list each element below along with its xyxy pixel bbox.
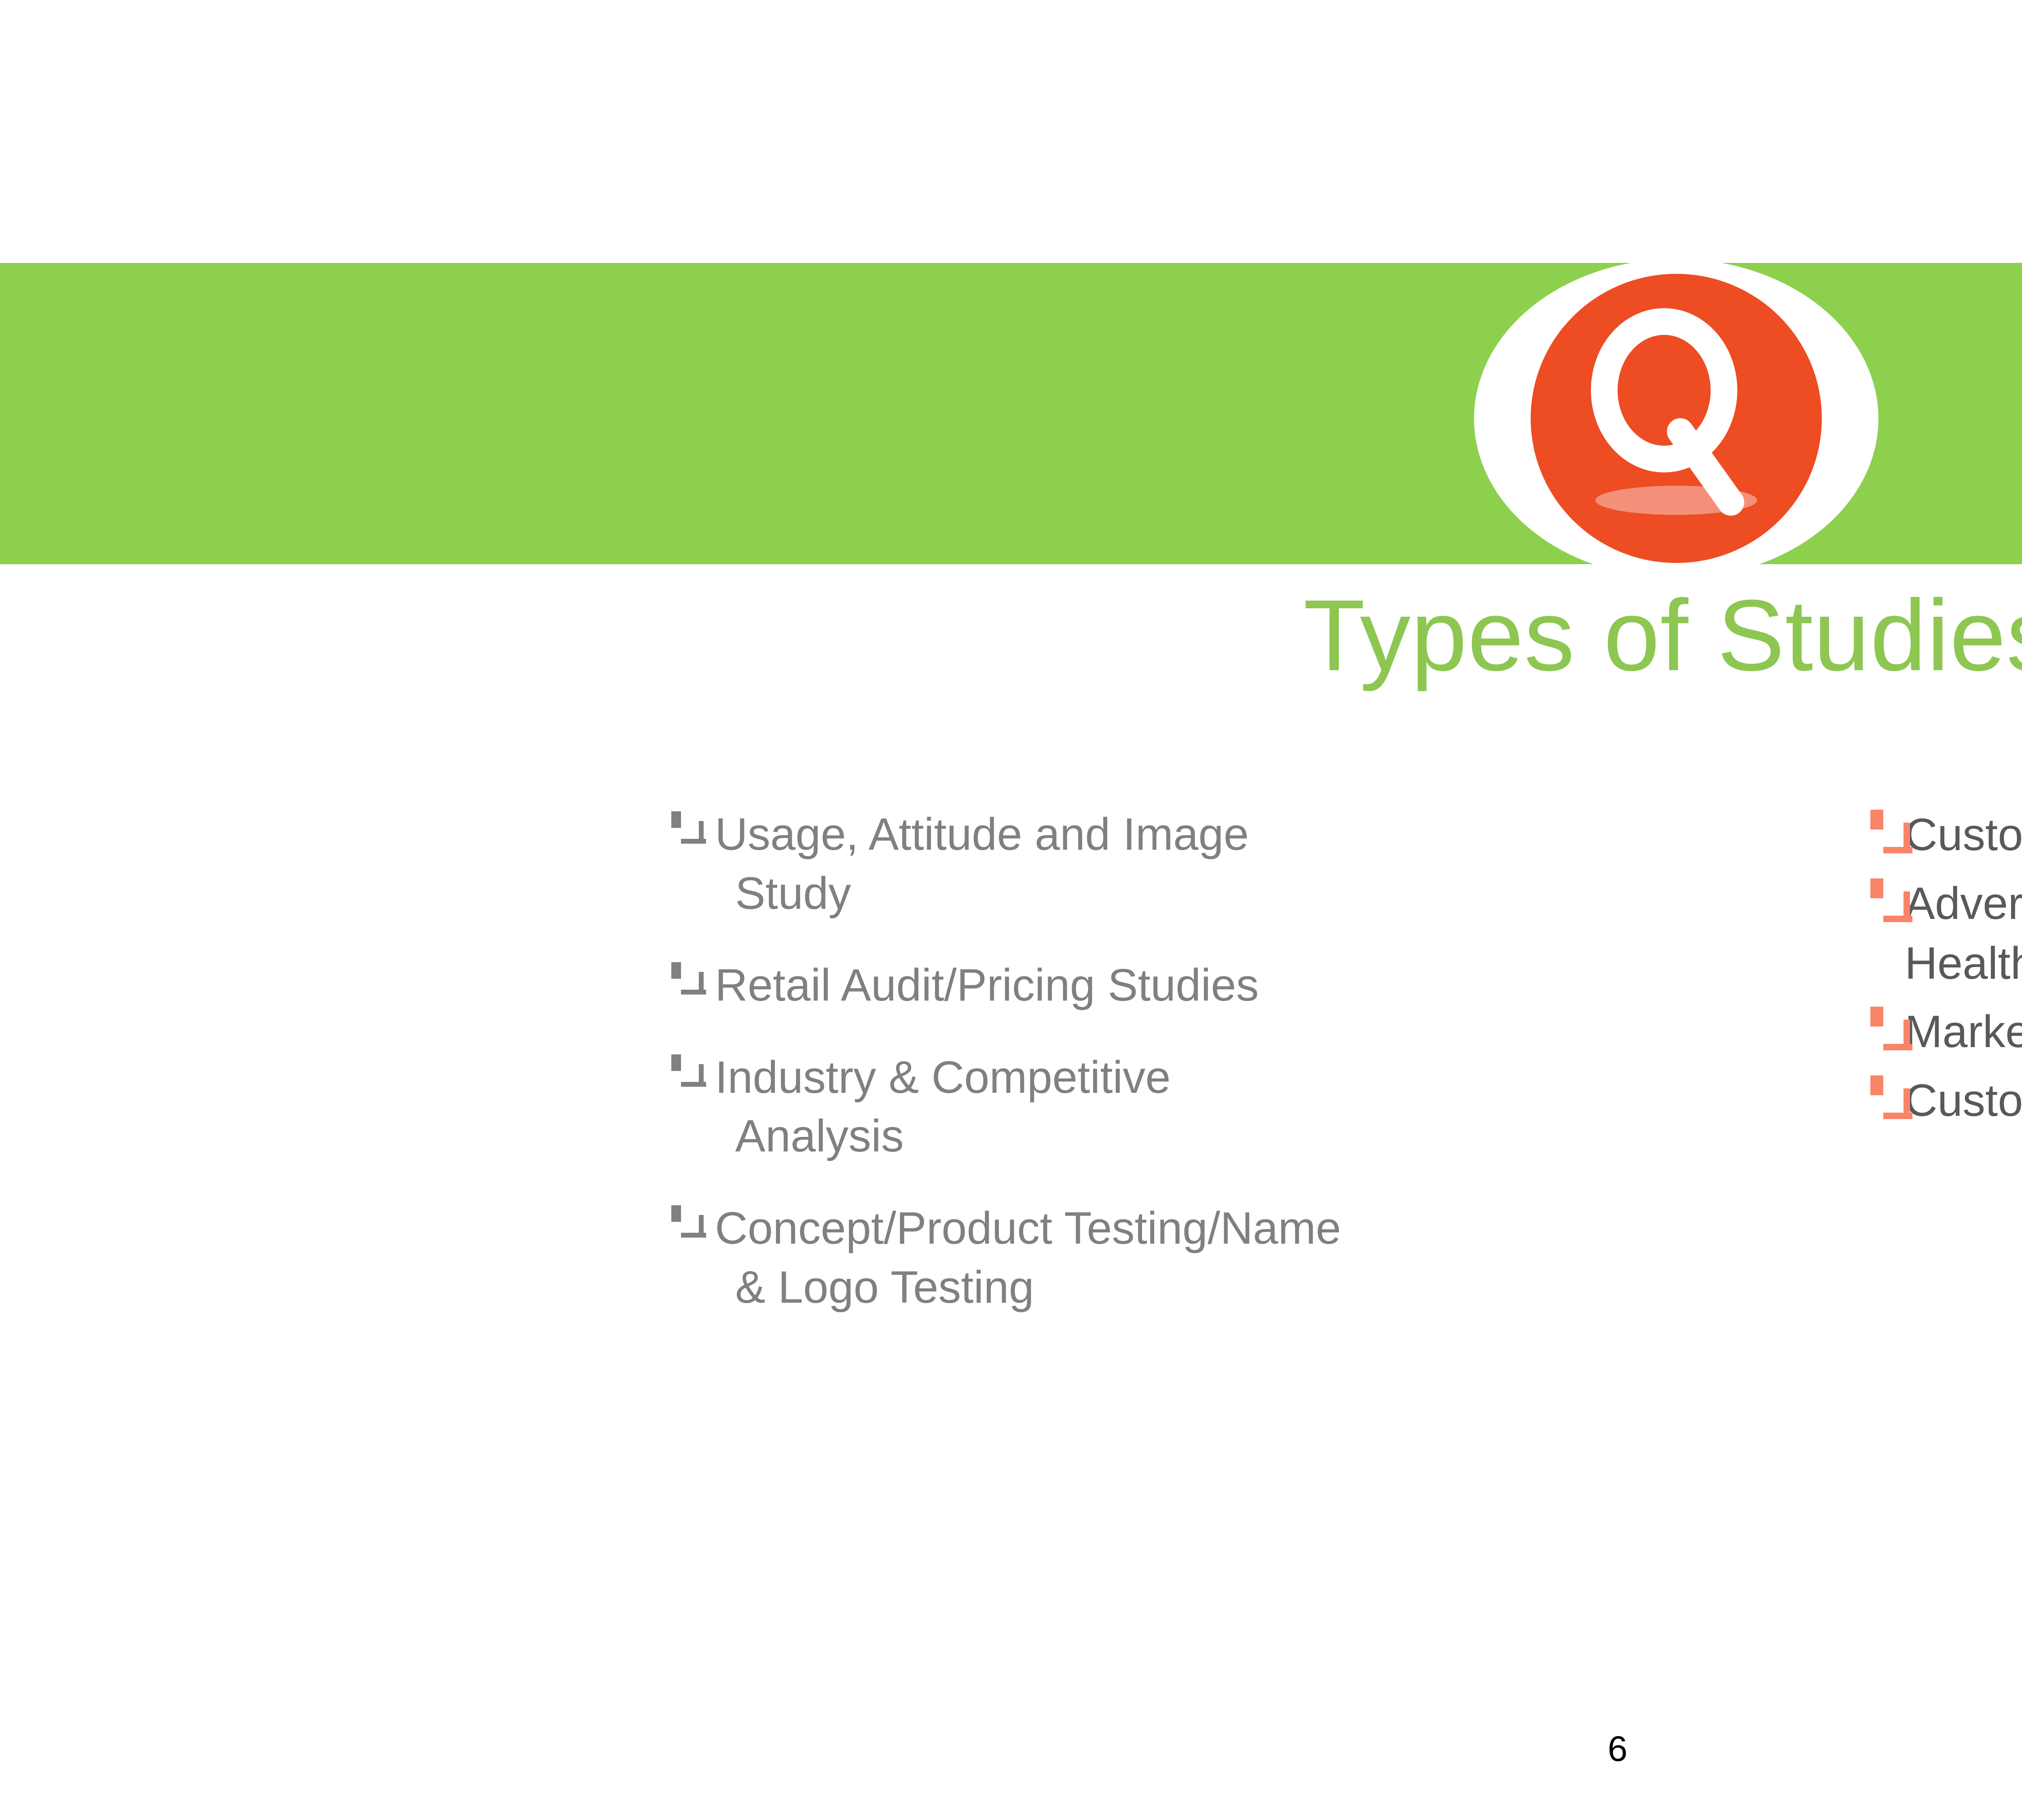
list-item[interactable]: Retail Audit/Pricing Studies bbox=[671, 956, 1703, 1015]
list-item[interactable]: Advertising Tracking/Brand Health bbox=[1870, 874, 2022, 993]
hollow-square-bullet-icon bbox=[671, 1210, 715, 1217]
list-item-line1: Industry & Competitive bbox=[715, 1052, 1171, 1103]
search-icon bbox=[1531, 274, 1822, 563]
list-item[interactable]: Concept/Product Testing/Name & Logo Test… bbox=[671, 1199, 1703, 1316]
list-item-line2: Analysis bbox=[715, 1107, 1703, 1166]
hollow-square-bullet-icon bbox=[671, 1059, 715, 1067]
list-item[interactable]: Usage, Attitude and Image Study bbox=[671, 805, 1703, 923]
hollow-square-bullet-icon bbox=[1870, 1013, 1905, 1020]
list-item-line1: Concept/Product Testing/Name bbox=[715, 1203, 1341, 1253]
page-number: 6 bbox=[1553, 1731, 1682, 1767]
list-item[interactable]: Customer Experience bbox=[1870, 1071, 2022, 1130]
list-item-text: Customer Satisfaction bbox=[1905, 805, 2022, 865]
list-item-line1: Retail Audit/Pricing Studies bbox=[715, 960, 1259, 1010]
list-item-text: Concept/Product Testing/Name & Logo Test… bbox=[715, 1199, 1703, 1316]
list-item-text: Market Segmentation bbox=[1905, 1002, 2022, 1062]
hollow-square-bullet-icon bbox=[671, 816, 715, 823]
list-item-line1: Market Segmentation bbox=[1905, 1006, 2022, 1057]
list-item-text: Advertising Tracking/Brand Health bbox=[1905, 874, 2022, 993]
slide-canvas: Types of Studies Usage, Attitude and Ima… bbox=[0, 0, 2022, 1820]
bullet-column-left: Usage, Attitude and Image Study Retail A… bbox=[671, 805, 1703, 1350]
list-item-text: Customer Experience bbox=[1905, 1071, 2022, 1130]
list-item-line1: Advertising Tracking/Brand bbox=[1905, 878, 2022, 929]
list-item[interactable]: Market Segmentation bbox=[1870, 1002, 2022, 1062]
page-title: Types of Studies bbox=[0, 582, 2022, 689]
list-item-text: Retail Audit/Pricing Studies bbox=[715, 956, 1703, 1015]
hollow-square-bullet-icon bbox=[1870, 885, 1905, 892]
list-item[interactable]: Customer Satisfaction bbox=[1870, 805, 2022, 865]
hollow-square-bullet-icon bbox=[1870, 1082, 1905, 1089]
list-item-line1: Usage, Attitude and Image bbox=[715, 809, 1249, 859]
list-item-line2: & Logo Testing bbox=[715, 1258, 1703, 1317]
list-item-line1: Customer Experience bbox=[1905, 1075, 2022, 1126]
bullet-column-right: Customer Satisfaction Advertising Tracki… bbox=[1870, 805, 2022, 1139]
list-item[interactable]: Industry & Competitive Analysis bbox=[671, 1048, 1703, 1166]
magnifier-badge bbox=[1474, 259, 1878, 578]
list-item-text: Usage, Attitude and Image Study bbox=[715, 805, 1703, 923]
list-item-line2: Study bbox=[715, 864, 1703, 923]
list-item-line2: Health bbox=[1905, 933, 2022, 993]
list-item-text: Industry & Competitive Analysis bbox=[715, 1048, 1703, 1166]
list-item-line1: Customer Satisfaction bbox=[1905, 809, 2022, 860]
hollow-square-bullet-icon bbox=[671, 967, 715, 974]
hollow-square-bullet-icon bbox=[1870, 816, 1905, 823]
